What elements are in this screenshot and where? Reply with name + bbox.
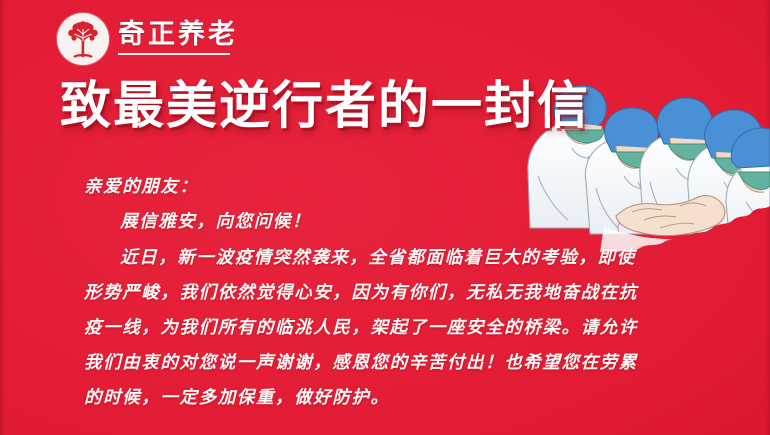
poster-canvas: 奇正养老 致最美逆行者的一封信 亲爱的朋友： 展信雅安，向您问候！ 近日，新一波… [0, 0, 770, 435]
page-title: 致最美逆行者的一封信 [60, 78, 590, 135]
letter-line: 我们由衷的对您说一声谢谢，感恩您的辛苦付出！也希望您在劳累 [84, 346, 684, 381]
letter-line: 近日，新一波疫情突然袭来，全省都面临着巨大的考验，即使 [84, 241, 684, 276]
letter-greeting: 展信雅安，向您问候！ [84, 205, 684, 240]
letter-line: 形势严峻，我们依然觉得心安，因为有你们，无私无我地奋战在抗 [84, 276, 684, 311]
letter-paragraph: 近日，新一波疫情突然袭来，全省都面临着巨大的考验，即使 形势严峻，我们依然觉得心… [84, 241, 684, 416]
right-edge-shade [766, 0, 770, 435]
letter-salutation: 亲爱的朋友： [84, 170, 684, 205]
left-edge-shade [0, 0, 5, 435]
brand-underline [118, 53, 230, 55]
medical-worker-4 [688, 110, 769, 238]
medical-worker-5 [726, 128, 770, 246]
tree-circle-logo-icon [57, 13, 109, 65]
letter-line: 的时候，一定多加保重，做好防护。 [84, 381, 684, 416]
brand-lockup: 奇正养老 [57, 13, 238, 65]
brand-name: 奇正养老 [118, 21, 238, 49]
letter-line: 疫一线，为我们所有的临洮人民，架起了一座安全的桥梁。请允许 [84, 311, 684, 346]
brand-text-block: 奇正养老 [118, 21, 238, 57]
letter-body: 亲爱的朋友： 展信雅安，向您问候！ 近日，新一波疫情突然袭来，全省都面临着巨大的… [84, 170, 684, 416]
